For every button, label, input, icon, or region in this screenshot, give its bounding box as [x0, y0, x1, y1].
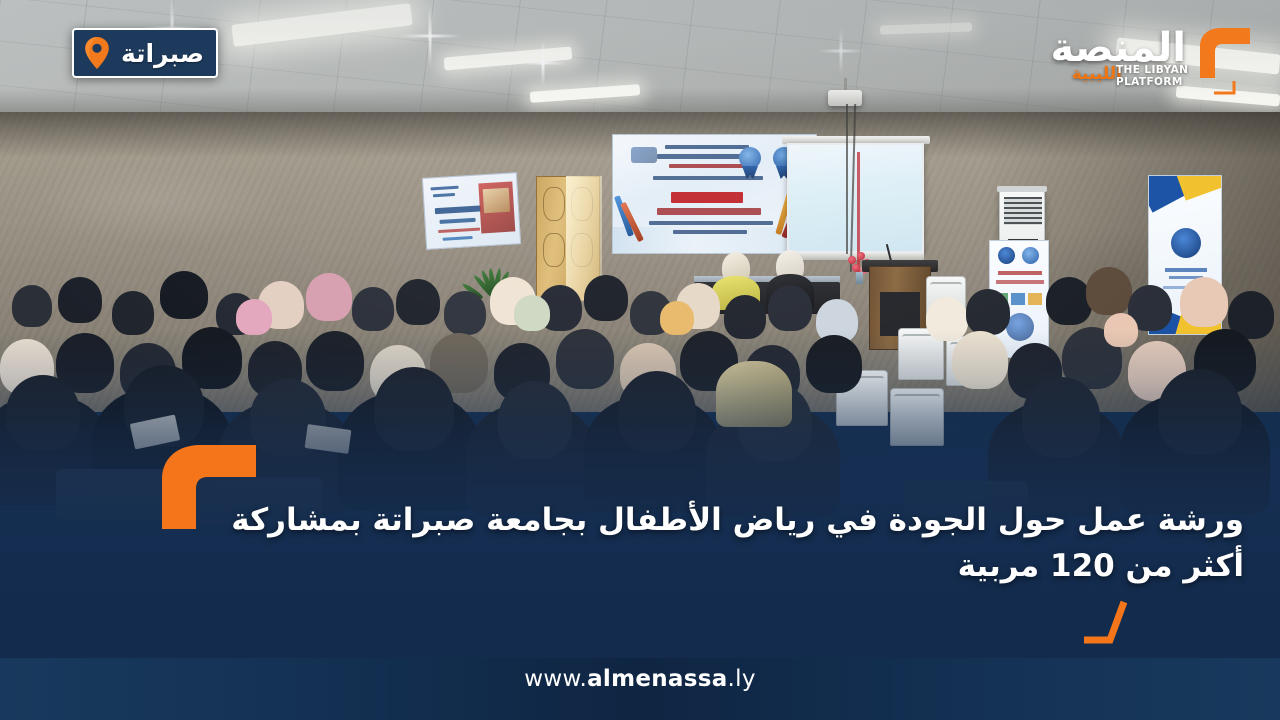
logo-arabic-sub: الليبية — [1072, 66, 1122, 83]
logo-corner-tick-icon — [1214, 80, 1240, 94]
footer-url-suffix: .ly — [728, 666, 756, 692]
map-pin-icon — [84, 36, 110, 70]
location-badge[interactable]: صبراتة — [72, 28, 218, 78]
logo-arabic-name: المنصة — [1050, 28, 1186, 68]
headline-caption: ورشة عمل حول الجودة في رياض الأطفال بجام… — [154, 498, 1244, 590]
caption-line-2: أكثر من 120 مربية — [154, 544, 1244, 590]
caption-line-1: ورشة عمل حول الجودة في رياض الأطفال بجام… — [154, 498, 1244, 544]
logo-english-name: THE LIBYAN PLATFORM — [1116, 64, 1190, 89]
news-card: صبراتة المنصة الليبية THE LIBYAN PLATFOR… — [0, 0, 1280, 720]
footer-url-prefix: www. — [524, 666, 587, 692]
orange-bracket-bottom-right-icon — [1084, 600, 1130, 644]
brand-logo[interactable]: المنصة الليبية THE LIBYAN PLATFORM — [1022, 14, 1258, 94]
website-footer[interactable]: www.almenassa.ly — [0, 666, 1280, 692]
logo-english-line2: PLATFORM — [1116, 76, 1190, 88]
location-label: صبراتة — [118, 41, 204, 66]
footer-url-brand: almenassa — [587, 666, 727, 692]
logo-mark-icon — [1190, 26, 1252, 78]
logo-english-line1: THE LIBYAN — [1116, 64, 1190, 76]
